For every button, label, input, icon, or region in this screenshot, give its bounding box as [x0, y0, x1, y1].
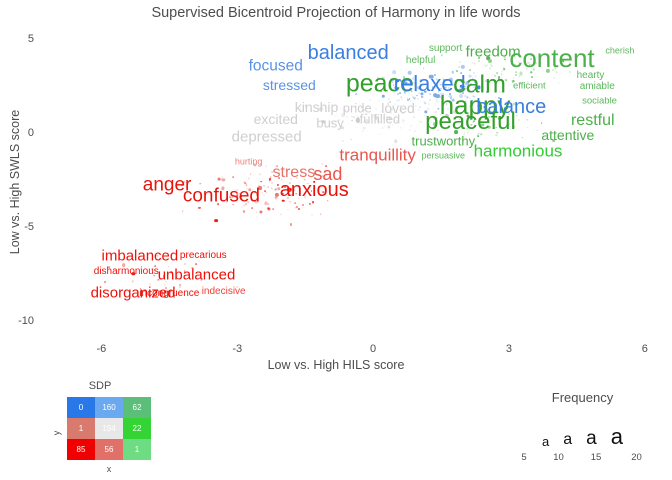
frequency-legend-value: 10 [548, 452, 570, 463]
sdp-legend-cell: 160 [95, 397, 123, 418]
word-label: hurting [235, 158, 263, 167]
word-label: attentive [541, 128, 594, 142]
word-label: hearty [577, 71, 605, 81]
sdp-legend-cell: 62 [123, 397, 151, 418]
word-label: helpful [406, 56, 435, 66]
x-tick-label: 3 [506, 343, 512, 355]
word-label: sociable [582, 96, 617, 106]
frequency-legend-value: 5 [515, 452, 534, 463]
word-label: depressed [232, 129, 302, 144]
word-label: focused [249, 58, 303, 74]
word-cloud-layer: balancedfocusedstressedpeacerelaxedcalmc… [38, 22, 672, 340]
word-label: balanced [308, 43, 389, 63]
word-label: cherish [605, 47, 634, 56]
page-title: Supervised Bicentroid Projection of Harm… [0, 5, 672, 21]
sdp-legend-cell: 1 [123, 439, 151, 460]
word-label: stress [273, 165, 316, 181]
word-label: stressed [263, 78, 316, 92]
word-label: kinship [295, 100, 339, 114]
sdp-legend-cell: 56 [95, 439, 123, 460]
sdp-legend: SDP 01606211942285561 y x [40, 380, 170, 478]
frequency-legend-glyphs: aaaa [500, 412, 665, 448]
word-label: peaceful [425, 110, 516, 134]
x-tick-label: 6 [642, 343, 648, 355]
word-label: tranquillity [339, 146, 416, 163]
word-label: support [429, 44, 462, 54]
word-label: excited [254, 112, 298, 126]
word-label: efficient [513, 81, 546, 91]
frequency-legend-glyph: a [563, 432, 572, 448]
frequency-legend-value: 20 [623, 452, 651, 463]
word-label: indecisive [202, 287, 246, 297]
frequency-legend-value: 15 [584, 452, 609, 463]
frequency-legend-glyph: a [611, 426, 623, 448]
sdp-legend-x-label: x [67, 464, 151, 474]
word-label: harmonious [474, 142, 563, 159]
plot-panel: balancedfocusedstressedpeacerelaxedcalmc… [38, 22, 672, 340]
sdp-legend-cell: 0 [67, 397, 95, 418]
word-label: imbalanced [102, 249, 179, 264]
sdp-legend-cell: 194 [95, 418, 123, 439]
sdp-legend-cell: 22 [123, 418, 151, 439]
sdp-legend-grid: 01606211942285561 [67, 397, 151, 460]
word-label: busy [316, 116, 343, 129]
word-label: unbalanced [158, 268, 236, 283]
frequency-legend-labels: 5101520 [500, 450, 665, 464]
word-label: amiable [580, 82, 615, 92]
word-label: freedom [466, 45, 521, 60]
word-label: disharmonious [94, 267, 159, 277]
word-label: incongruence [139, 289, 199, 299]
word-label: precarious [180, 251, 227, 261]
word-label: persuasive [422, 151, 466, 160]
sdp-legend-y-label: y [51, 431, 61, 436]
word-label: anxious [280, 180, 349, 200]
frequency-legend-glyph: a [586, 429, 597, 448]
sdp-legend-caption: SDP [40, 380, 160, 392]
frequency-legend-glyph: a [542, 435, 549, 448]
word-label: trustworthy [412, 135, 476, 148]
y-tick-label: 5 [8, 33, 34, 45]
frequency-legend-caption: Frequency [500, 390, 665, 405]
word-label: content [509, 45, 594, 71]
word-label: fulfilled [360, 112, 400, 125]
frequency-legend: Frequency aaaa 5101520 [500, 390, 665, 475]
plot-root: Supervised Bicentroid Projection of Harm… [0, 0, 672, 480]
y-axis-label: Low vs. High SWLS score [8, 107, 22, 257]
sdp-legend-cell: 1 [67, 418, 95, 439]
word-label: confused [183, 187, 260, 206]
x-tick-label: -3 [232, 343, 242, 355]
y-tick-label: -10 [8, 315, 34, 327]
sdp-legend-cell: 85 [67, 439, 95, 460]
x-tick-label: 0 [370, 343, 376, 355]
x-axis-label: Low vs. High HILS score [0, 358, 672, 372]
x-tick-label: -6 [97, 343, 107, 355]
